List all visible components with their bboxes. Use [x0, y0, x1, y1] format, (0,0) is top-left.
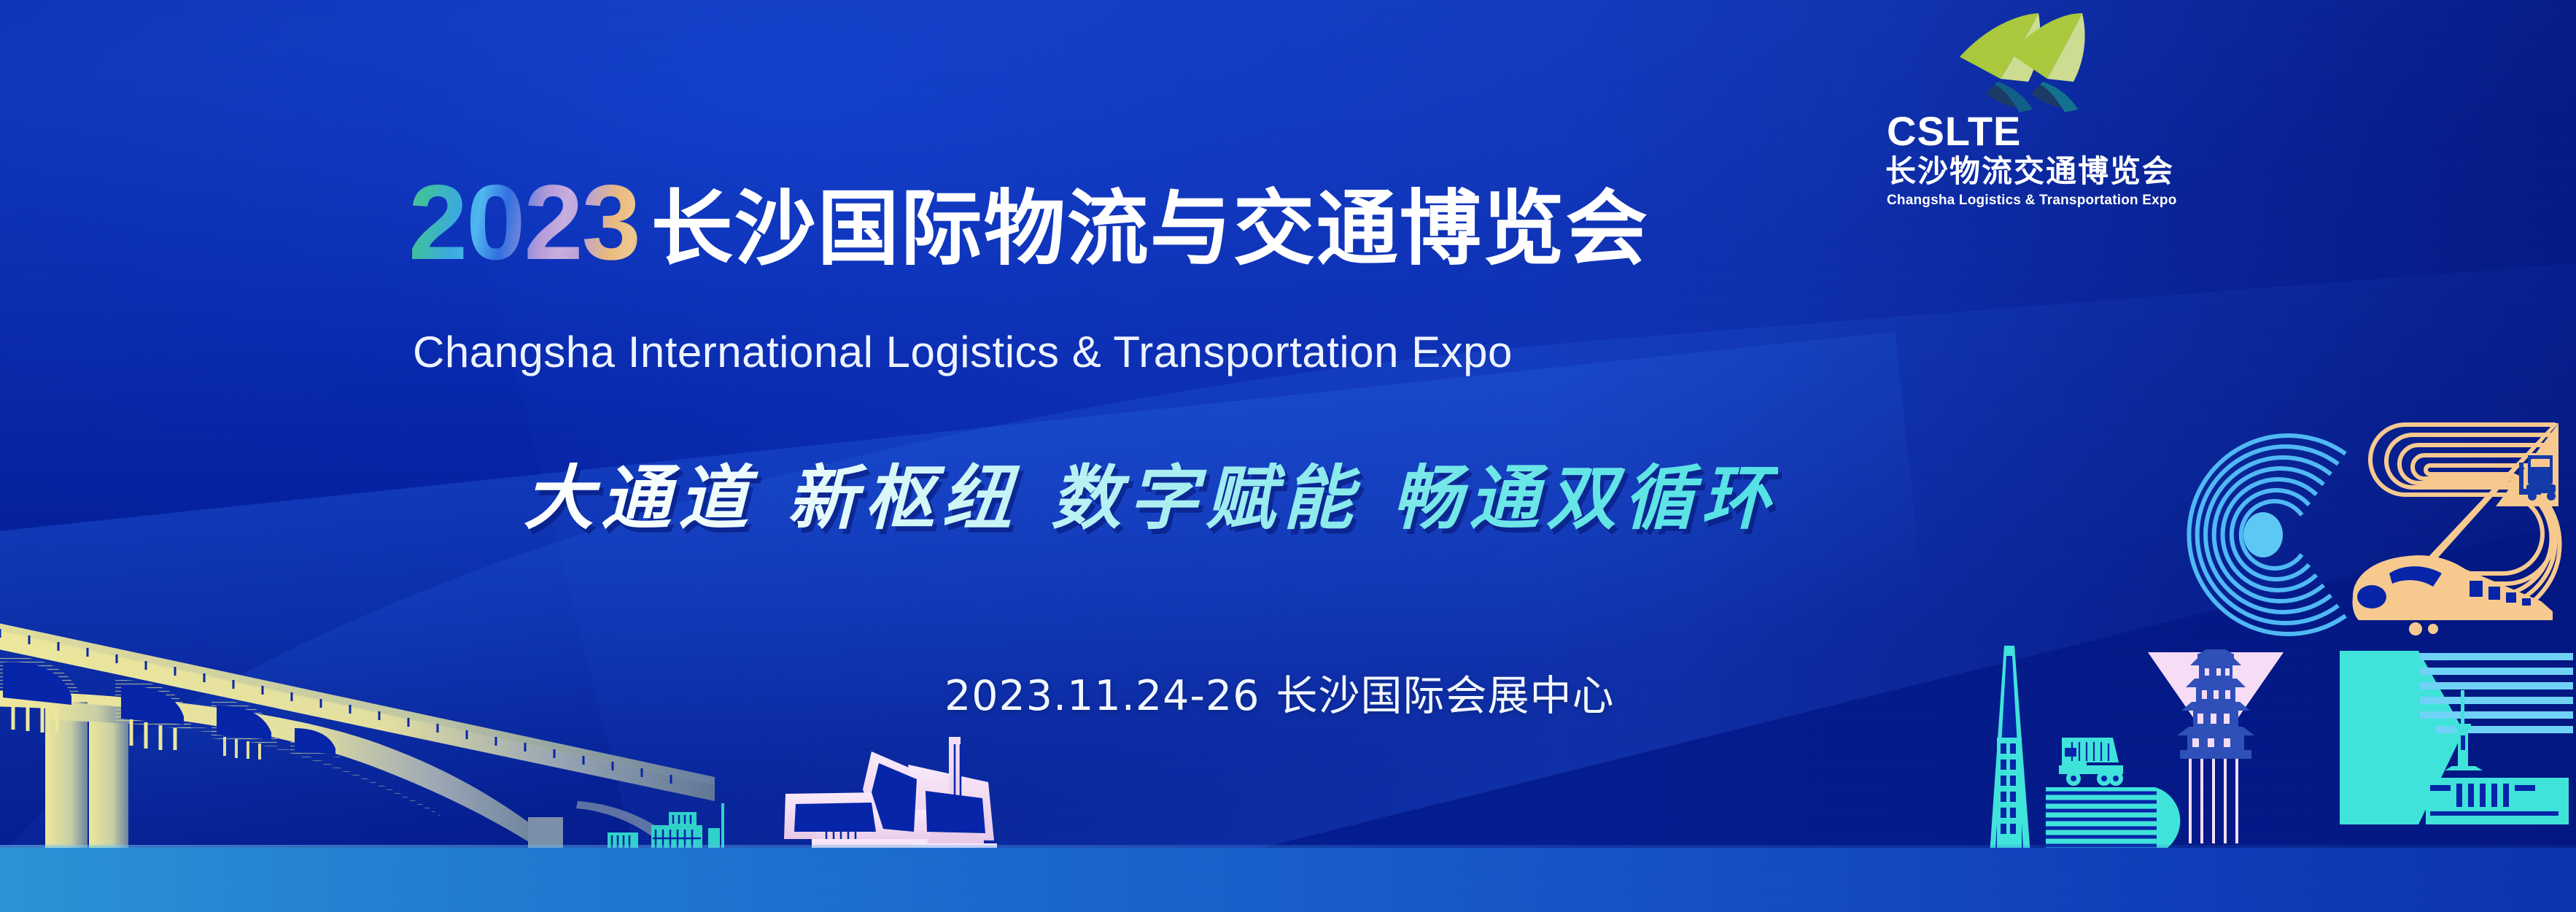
title-english: Changsha International Logistics & Trans… [413, 327, 1513, 377]
expo-poster: CSLTE 长沙物流交通博览会 Changsha Logistics & Tra… [0, 0, 2576, 912]
logo-english-name: Changsha Logistics & Transportation Expo [1887, 193, 2177, 207]
event-venue: 长沙国际会展中心 [1276, 672, 1614, 720]
main-title-row: 2023 长沙国际物流与交通博览会 [408, 181, 1649, 276]
letter-s-rings-decoration [2346, 417, 2564, 662]
letter-c-rings-decoration [2150, 422, 2369, 652]
pagoda-tower-icon [2146, 649, 2285, 850]
slogan-text: 大通道 新枢纽 数字赋能 畅通双循环 [524, 441, 1778, 543]
logo-chinese-name: 长沙物流交通博览会 [1885, 156, 2174, 187]
water-band [0, 848, 2576, 912]
title-year: 2023 [408, 169, 651, 276]
cslte-logo: CSLTE 长沙物流交通博览会 Changsha Logistics & Tra… [1871, 16, 2184, 198]
logo-acronym: CSLTE [1887, 111, 2021, 152]
cyan-arrow-stripes-block [2340, 649, 2573, 850]
event-date: 2023.11.24-26 [944, 672, 1260, 720]
event-date-venue: 2023.11.24-26长沙国际会展中心 [944, 662, 1614, 722]
title-chinese: 长沙国际物流与交通博览会 [651, 188, 1649, 270]
